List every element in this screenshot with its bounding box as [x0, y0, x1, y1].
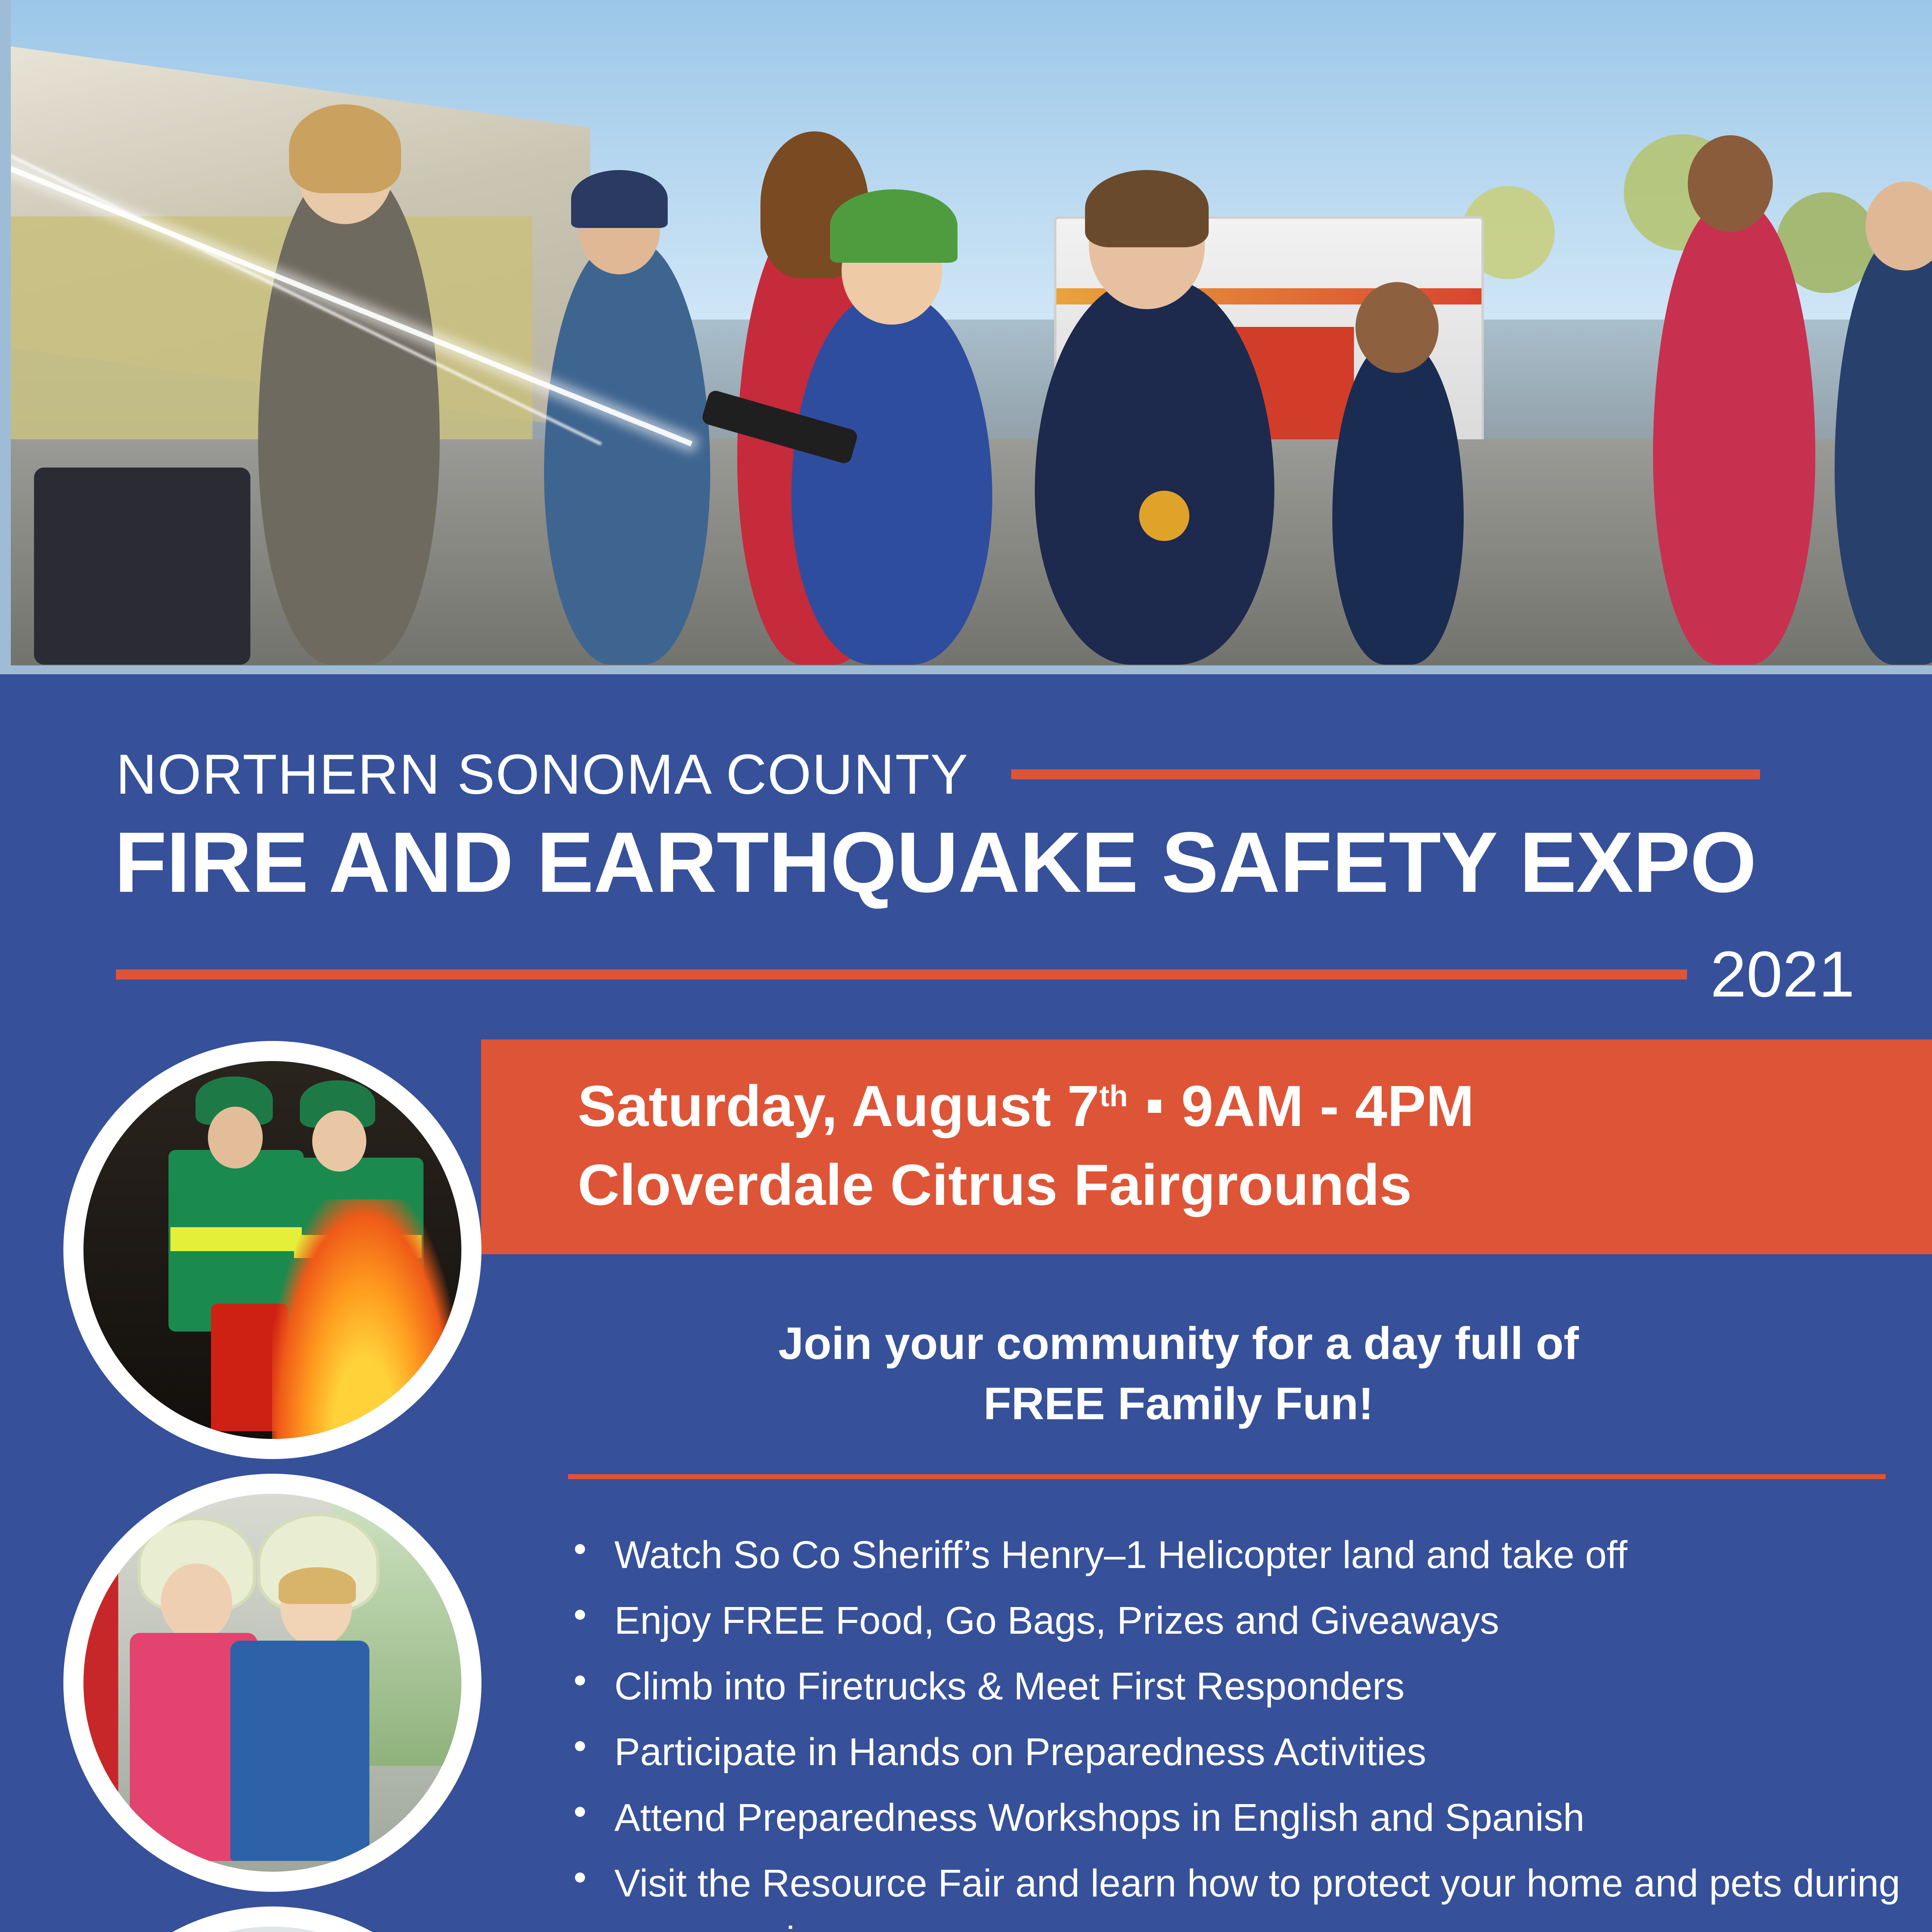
bullet-dot-icon [575, 1807, 585, 1817]
sheriff-helicopter-scene [83, 1927, 461, 1932]
bullet-dot-icon [575, 1872, 585, 1883]
event-details-banner: Saturday, August 7th9AM - 4PM Cloverdale… [481, 1039, 1932, 1254]
divider-top [568, 1474, 1886, 1479]
activities-list: Watch So Co Sheriff’s Henry–1 Helicopter… [560, 1526, 1932, 1932]
list-item: Climb into Firetrucks & Meet First Respo… [560, 1658, 1932, 1715]
list-item: Participate in Hands on Preparedness Act… [560, 1723, 1932, 1781]
subhead: Join your community for a day full of FR… [502, 1314, 1855, 1434]
cert-face-left [208, 1107, 263, 1168]
list-item-label: Climb into Firetrucks & Meet First Respo… [614, 1665, 1405, 1708]
hero-firefighter-navy [1035, 278, 1274, 665]
list-item-label: Watch So Co Sheriff’s Henry–1 Helicopter… [614, 1533, 1628, 1577]
event-venue: Cloverdale Citrus Fairgrounds [578, 1151, 1412, 1218]
photo-circle-1-image [83, 1061, 461, 1439]
photo-circle-3-image [83, 1927, 461, 1932]
photo-circle-cert-extinguisher [73, 1051, 471, 1449]
hero-firefighter-hair [1085, 170, 1209, 247]
list-item-label: Enjoy FREE Food, Go Bags, Prizes and Giv… [614, 1599, 1499, 1642]
photo-circle-sheriff-helicopter [73, 1917, 471, 1932]
helicopter-treeline [83, 1927, 461, 1932]
firetruck-red-panel [83, 1494, 118, 1872]
page-title: FIRE AND EARTHQUAKE SAFETY EXPO [114, 813, 1756, 912]
list-item: Watch So Co Sheriff’s Henry–1 Helicopter… [560, 1526, 1932, 1583]
year-rule [116, 969, 1687, 980]
list-item-label: Participate in Hands on Preparedness Act… [614, 1730, 1426, 1774]
flames [272, 1199, 457, 1439]
hero-child-green-cap [830, 189, 957, 263]
list-item: Enjoy FREE Food, Go Bags, Prizes and Giv… [560, 1592, 1932, 1649]
subhead-line-1: Join your community for a day full of [502, 1314, 1855, 1374]
kid-face-left [161, 1563, 232, 1641]
kids-firetruck-scene [83, 1494, 461, 1872]
hero-person-woman-gray [258, 166, 440, 665]
cert-extinguisher-scene [83, 1061, 461, 1439]
event-date: Saturday, August 7 [578, 1073, 1099, 1138]
hero-photo-image [11, 0, 1932, 665]
kid-hair-blonde [279, 1567, 356, 1604]
list-item-label: Attend Preparedness Workshops in English… [614, 1796, 1585, 1839]
hero-child-dark [1332, 340, 1464, 665]
event-time: 9AM - 4PM [1181, 1073, 1474, 1138]
bullet-dot-icon [575, 1675, 585, 1685]
list-item: Visit the Resource Fair and learn how to… [560, 1855, 1932, 1932]
list-item: Attend Preparedness Workshops in English… [560, 1789, 1932, 1846]
photo-circle-kids-firetruck [73, 1484, 471, 1882]
cert-face-right [312, 1111, 366, 1172]
kid-shirt-blue [230, 1641, 369, 1861]
hero-person-man-denim-cap [571, 170, 668, 228]
poster-root: NORTHERN SONOMA COUNTY FIRE AND EARTHQUA… [0, 0, 1932, 1932]
bullet-dot-icon [575, 1610, 585, 1620]
event-date-time: Saturday, August 7th9AM - 4PM [578, 1073, 1474, 1139]
photo-circle-2-image [83, 1494, 461, 1872]
subhead-line-2: FREE Family Fun! [502, 1374, 1855, 1434]
kicker-text: NORTHERN SONOMA COUNTY [116, 742, 969, 807]
hero-person-pink-head [1688, 135, 1773, 232]
event-date-ordinal: th [1099, 1079, 1128, 1113]
bullet-dot-icon [575, 1544, 585, 1554]
hero-child-blue-jacket [791, 294, 992, 665]
year-text: 2021 [1710, 937, 1855, 1012]
hero-person-woman-gray-hair [289, 104, 401, 193]
hero-person-pink [1653, 201, 1815, 665]
hero-child-dark-head [1355, 282, 1439, 373]
hero-stroller [34, 468, 250, 665]
bullet-dot-icon [575, 1741, 585, 1751]
kicker-rule [1011, 769, 1760, 779]
hero-firefighter-badge [1139, 491, 1189, 541]
list-item-label: Visit the Resource Fair and learn how to… [614, 1862, 1900, 1932]
year-row: 2021 [116, 937, 1855, 1012]
hero-person-man-denim [544, 240, 710, 665]
hero-photo [0, 0, 1932, 674]
title-block: NORTHERN SONOMA COUNTY FIRE AND EARTHQUA… [0, 674, 1932, 1036]
banner-separator-square [1148, 1100, 1161, 1113]
kicker-row: NORTHERN SONOMA COUNTY [116, 742, 1855, 807]
